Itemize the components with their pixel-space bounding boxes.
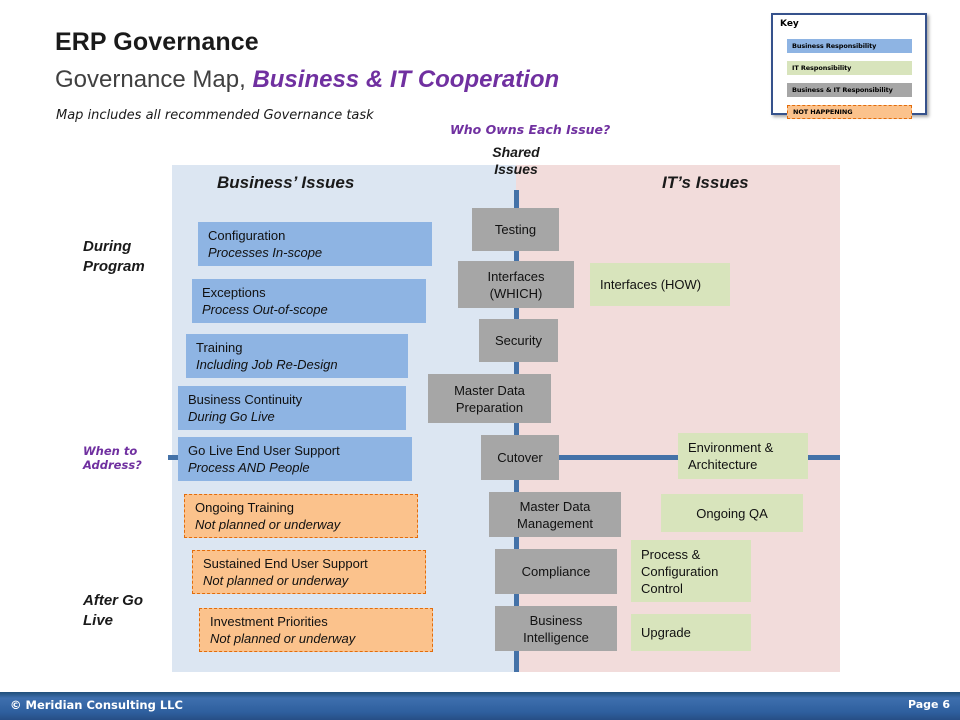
timeline-label-after-go-live: After Go Live — [83, 591, 143, 631]
node-master-data-preparation-line1: Master Data — [454, 382, 525, 399]
node-training[interactable]: Training Including Job Re-Design — [186, 334, 408, 378]
during-program-line2: Program — [83, 257, 145, 277]
connector-vline-7 — [514, 594, 519, 606]
connector-vline-3 — [514, 362, 519, 374]
page-title: ERP Governance — [55, 28, 259, 57]
node-investment-priorities-title: Investment Priorities — [210, 613, 422, 630]
legend-item-business: Business Responsibility — [787, 39, 912, 53]
node-interfaces-which-line1: Interfaces — [487, 268, 544, 285]
timeline-label-during-program: During Program — [83, 237, 145, 277]
node-go-live-end-user-support-sub: Process AND People — [188, 459, 402, 476]
footer-page-number: Page 6 — [908, 698, 950, 711]
node-upgrade-line1: Upgrade — [641, 624, 741, 641]
connector-vline-0 — [514, 190, 519, 210]
during-program-line1: During — [83, 237, 145, 257]
node-training-title: Training — [196, 339, 398, 356]
node-upgrade[interactable]: Upgrade — [631, 614, 751, 651]
legend-item-not-happening: NOT HAPPENING — [787, 105, 912, 119]
legend-item-business-and-it: Business & IT Responsibility — [787, 83, 912, 97]
node-training-sub: Including Job Re-Design — [196, 356, 398, 373]
shared-issues-header-line1: Shared — [480, 144, 552, 161]
node-sustained-end-user-support-title: Sustained End User Support — [203, 555, 415, 572]
node-environment-architecture[interactable]: Environment & Architecture — [678, 433, 808, 479]
node-environment-architecture-line1: Environment & — [688, 439, 798, 456]
when-to-address-line2: Address? — [83, 458, 142, 472]
node-business-intelligence-line2: Intelligence — [523, 629, 589, 646]
node-master-data-management[interactable]: Master Data Management — [489, 492, 621, 537]
who-owns-label: Who Owns Each Issue? — [450, 122, 610, 137]
connector-vline-6 — [514, 537, 519, 549]
node-testing-line1: Testing — [495, 221, 536, 238]
node-configuration-title: Configuration — [208, 227, 422, 244]
node-process-configuration-control[interactable]: Process & Configuration Control — [631, 540, 751, 602]
page-subtitle-accent: Business & IT Cooperation — [252, 66, 559, 93]
legend-title: Key — [780, 19, 799, 29]
connector-vline-4 — [514, 423, 519, 435]
legend-item-it: IT Responsibility — [787, 61, 912, 75]
node-business-continuity-sub: During Go Live — [188, 408, 396, 425]
node-process-configuration-control-line1: Process & — [641, 546, 741, 563]
node-ongoing-training-title: Ongoing Training — [195, 499, 407, 516]
node-interfaces-which-line2: (WHICH) — [490, 285, 543, 302]
node-master-data-management-line1: Master Data — [520, 498, 591, 515]
node-ongoing-training[interactable]: Ongoing Training Not planned or underway — [184, 494, 418, 538]
connector-vline-2 — [514, 307, 519, 319]
connector-vline-5 — [514, 480, 519, 492]
node-security[interactable]: Security — [479, 319, 558, 362]
node-security-line1: Security — [495, 332, 542, 349]
node-compliance-line1: Compliance — [522, 563, 591, 580]
node-go-live-end-user-support[interactable]: Go Live End User Support Process AND Peo… — [178, 437, 412, 481]
node-exceptions-sub: Process Out-of-scope — [202, 301, 416, 318]
when-to-address-line1: When to — [83, 444, 142, 458]
footer-bar: © Meridian Consulting LLC Page 6 — [0, 692, 960, 720]
after-go-live-line1: After Go — [83, 591, 143, 611]
page-subtitle-plain: Governance Map, — [55, 66, 252, 93]
shared-issues-header: Shared Issues — [480, 144, 552, 178]
node-master-data-management-line2: Management — [517, 515, 593, 532]
after-go-live-line2: Live — [83, 611, 143, 631]
connector-hline-center — [550, 455, 688, 460]
timeline-label-when-to-address: When to Address? — [83, 444, 142, 472]
node-ongoing-qa-line1: Ongoing QA — [696, 505, 768, 522]
node-testing[interactable]: Testing — [472, 208, 559, 251]
node-investment-priorities-sub: Not planned or underway — [210, 630, 422, 647]
node-configuration[interactable]: Configuration Processes In-scope — [198, 222, 432, 266]
it-issues-header: IT’s Issues — [662, 173, 749, 193]
node-cutover[interactable]: Cutover — [481, 435, 559, 480]
node-sustained-end-user-support[interactable]: Sustained End User Support Not planned o… — [192, 550, 426, 594]
node-process-configuration-control-line2: Configuration — [641, 563, 741, 580]
node-configuration-sub: Processes In-scope — [208, 244, 422, 261]
node-exceptions[interactable]: Exceptions Process Out-of-scope — [192, 279, 426, 323]
node-cutover-line1: Cutover — [497, 449, 543, 466]
node-master-data-preparation-line2: Preparation — [456, 399, 523, 416]
node-business-continuity-title: Business Continuity — [188, 391, 396, 408]
business-issues-header: Business’ Issues — [217, 173, 354, 193]
node-business-intelligence-line1: Business — [530, 612, 583, 629]
node-exceptions-title: Exceptions — [202, 284, 416, 301]
node-business-continuity[interactable]: Business Continuity During Go Live — [178, 386, 406, 430]
legend-key-box: Key Business Responsibility IT Responsib… — [771, 13, 927, 115]
node-investment-priorities[interactable]: Investment Priorities Not planned or und… — [199, 608, 433, 652]
shared-issues-header-line2: Issues — [480, 161, 552, 178]
connector-vline-8 — [514, 651, 519, 672]
node-ongoing-qa[interactable]: Ongoing QA — [661, 494, 803, 532]
node-go-live-end-user-support-title: Go Live End User Support — [188, 442, 402, 459]
node-process-configuration-control-line3: Control — [641, 580, 741, 597]
node-compliance[interactable]: Compliance — [495, 549, 617, 594]
node-ongoing-training-sub: Not planned or underway — [195, 516, 407, 533]
node-business-intelligence[interactable]: Business Intelligence — [495, 606, 617, 651]
node-sustained-end-user-support-sub: Not planned or underway — [203, 572, 415, 589]
page-subtitle: Governance Map, Business & IT Cooperatio… — [55, 66, 559, 94]
footer-copyright: © Meridian Consulting LLC — [10, 698, 183, 712]
map-note: Map includes all recommended Governance … — [56, 108, 374, 123]
node-interfaces-how-line1: Interfaces (HOW) — [600, 276, 720, 293]
node-environment-architecture-line2: Architecture — [688, 456, 798, 473]
node-interfaces-how[interactable]: Interfaces (HOW) — [590, 263, 730, 306]
slide-canvas: ERP Governance Governance Map, Business … — [0, 0, 960, 720]
node-master-data-preparation[interactable]: Master Data Preparation — [428, 374, 551, 423]
node-interfaces-which[interactable]: Interfaces (WHICH) — [458, 261, 574, 308]
